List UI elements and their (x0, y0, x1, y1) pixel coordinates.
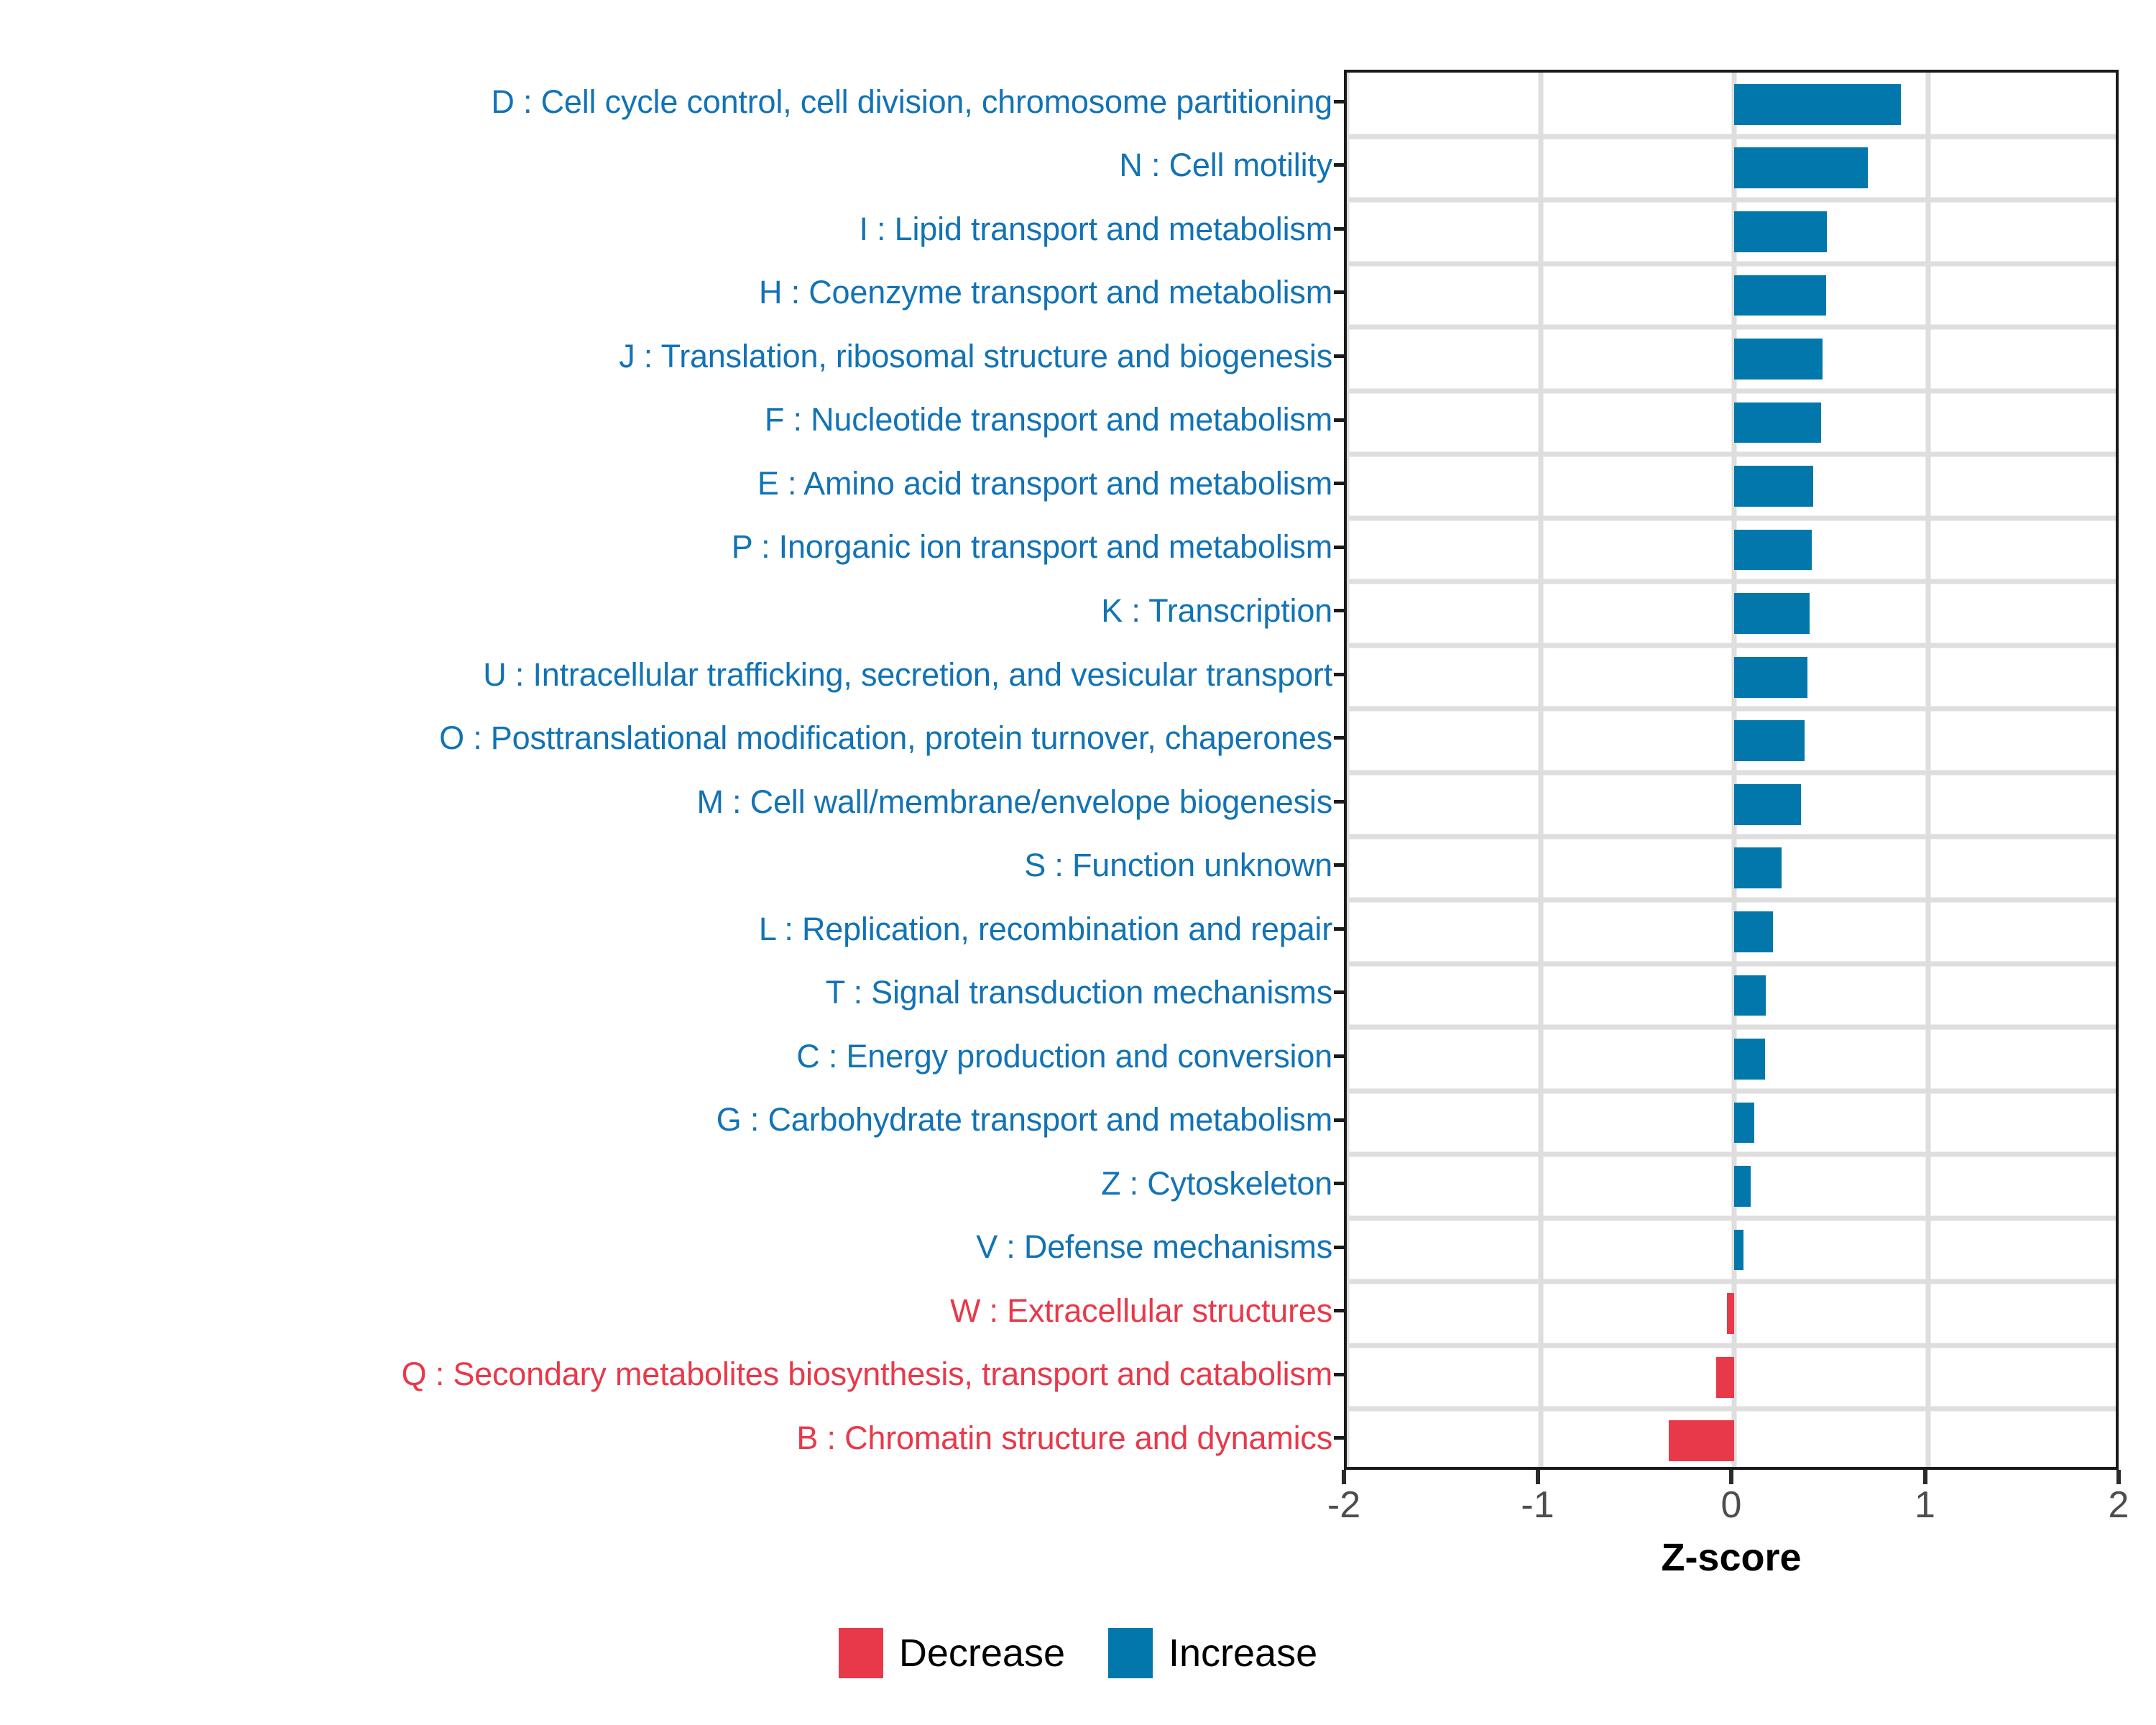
category-label: V : Defense mechanisms (976, 1230, 1332, 1263)
category-label: D : Cell cycle control, cell division, c… (491, 86, 1332, 118)
y-axis-label-row: E : Amino acid transport and metabolism (0, 451, 1342, 515)
category-label: U : Intracellular trafficking, secretion… (483, 658, 1332, 691)
category-label: Z : Cytoskeleton (1101, 1167, 1332, 1200)
bar (1734, 847, 1782, 888)
bar (1734, 339, 1823, 379)
y-axis-label-row: M : Cell wall/membrane/envelope biogenes… (0, 770, 1342, 834)
bar (1727, 1293, 1734, 1334)
y-tick-mark (1334, 609, 1344, 612)
y-axis-category-labels: D : Cell cycle control, cell division, c… (0, 70, 1342, 1470)
y-axis-label-row: C : Energy production and conversion (0, 1024, 1342, 1088)
horizontal-gridline (1347, 1215, 2116, 1220)
x-tick-label: -2 (1327, 1486, 1360, 1524)
legend-swatch-increase (1108, 1628, 1153, 1678)
y-tick-mark (1334, 418, 1344, 422)
bar (1669, 1420, 1734, 1461)
y-axis-label-row: O : Posttranslational modification, prot… (0, 706, 1342, 770)
plot-area (1347, 73, 2116, 1467)
horizontal-gridline (1347, 198, 2116, 203)
bar (1734, 402, 1821, 443)
y-tick-mark (1334, 1118, 1344, 1122)
y-tick-mark (1334, 354, 1344, 358)
plot-panel (1344, 70, 2119, 1470)
bar (1734, 784, 1801, 825)
horizontal-gridline (1347, 1343, 2116, 1348)
y-axis-label-row: D : Cell cycle control, cell division, c… (0, 70, 1342, 134)
bar (1716, 1357, 1734, 1398)
category-label: P : Inorganic ion transport and metaboli… (732, 530, 1332, 563)
y-axis-label-row: K : Transcription (0, 579, 1342, 643)
horizontal-gridline (1347, 388, 2116, 393)
bar (1734, 1230, 1743, 1271)
y-tick-mark (1334, 290, 1344, 294)
horizontal-gridline (1347, 515, 2116, 520)
bar (1734, 1103, 1754, 1144)
y-axis-label-row: N : Cell motility (0, 134, 1342, 198)
category-label: W : Extracellular structures (950, 1294, 1332, 1327)
horizontal-gridline (1347, 1279, 2116, 1284)
category-label: I : Lipid transport and metabolism (859, 213, 1332, 245)
x-tick-mark (1729, 1470, 1733, 1484)
y-tick-mark (1334, 1246, 1344, 1249)
category-label: T : Signal transduction mechanisms (826, 976, 1332, 1008)
y-tick-mark (1334, 990, 1344, 994)
y-tick-mark (1334, 863, 1344, 867)
bar (1734, 466, 1813, 507)
category-label: S : Function unknown (1024, 849, 1332, 881)
horizontal-gridline (1347, 643, 2116, 648)
category-label: C : Energy production and conversion (796, 1040, 1332, 1072)
y-tick-mark (1334, 800, 1344, 804)
y-tick-mark (1334, 1309, 1344, 1312)
legend-label: Increase (1169, 1634, 1317, 1673)
y-axis-label-row: Z : Cytoskeleton (0, 1151, 1342, 1215)
bar (1734, 84, 1901, 125)
horizontal-gridline (1347, 898, 2116, 903)
x-axis-tick-labels: -2-1012 (1344, 1486, 2119, 1529)
horizontal-gridline (1347, 1088, 2116, 1093)
y-axis-label-row: B : Chromatin structure and dynamics (0, 1406, 1342, 1470)
legend-swatch-decrease (839, 1628, 883, 1678)
y-axis-label-row: F : Nucleotide transport and metabolism (0, 388, 1342, 452)
horizontal-gridline (1347, 961, 2116, 966)
y-tick-mark (1334, 673, 1344, 676)
horizontal-gridline (1347, 707, 2116, 712)
category-label: L : Replication, recombination and repai… (759, 913, 1332, 945)
bar (1734, 211, 1827, 252)
horizontal-gridline (1347, 1407, 2116, 1412)
horizontal-gridline (1347, 579, 2116, 584)
category-label: Q : Secondary metabolites biosynthesis, … (402, 1358, 1332, 1390)
bar (1734, 975, 1766, 1016)
bar (1734, 147, 1868, 188)
y-tick-mark (1334, 482, 1344, 485)
y-axis-label-row: W : Extracellular structures (0, 1279, 1342, 1343)
bar (1734, 1039, 1765, 1080)
horizontal-gridline (1347, 1025, 2116, 1030)
y-axis-label-row: H : Coenzyme transport and metabolism (0, 261, 1342, 325)
horizontal-gridline (1347, 452, 2116, 457)
y-tick-mark (1334, 1373, 1344, 1376)
y-axis-label-row: G : Carbohydrate transport and metabolis… (0, 1088, 1342, 1152)
y-axis-label-row: T : Signal transduction mechanisms (0, 960, 1342, 1024)
x-tick-mark (1342, 1470, 1346, 1484)
horizontal-gridline (1347, 261, 2116, 266)
legend-item[interactable]: Increase (1108, 1628, 1317, 1678)
category-label: G : Carbohydrate transport and metabolis… (717, 1103, 1332, 1136)
y-axis-label-row: P : Inorganic ion transport and metaboli… (0, 515, 1342, 579)
bar (1734, 720, 1805, 761)
x-tick-label: 1 (1915, 1486, 1935, 1524)
y-axis-label-row: V : Defense mechanisms (0, 1215, 1342, 1279)
category-label: B : Chromatin structure and dynamics (796, 1422, 1332, 1454)
x-tick-mark (1536, 1470, 1540, 1484)
x-axis-tick-marks (1344, 1470, 2119, 1484)
y-tick-mark (1334, 1436, 1344, 1440)
y-axis-label-row: J : Translation, ribosomal structure and… (0, 324, 1342, 388)
bar (1734, 275, 1826, 316)
y-axis-label-row: L : Replication, recombination and repai… (0, 897, 1342, 961)
category-label: K : Transcription (1101, 594, 1332, 627)
bar (1734, 657, 1807, 698)
bar (1734, 530, 1812, 571)
horizontal-gridline (1347, 325, 2116, 330)
y-axis-label-row: I : Lipid transport and metabolism (0, 197, 1342, 261)
x-tick-label: -1 (1521, 1486, 1554, 1524)
horizontal-gridline (1347, 1152, 2116, 1157)
y-tick-mark (1334, 100, 1344, 103)
y-axis-label-row: U : Intracellular trafficking, secretion… (0, 643, 1342, 707)
y-tick-mark (1334, 1182, 1344, 1185)
y-tick-mark (1334, 736, 1344, 740)
x-tick-label: 2 (2109, 1486, 2129, 1524)
category-label: H : Coenzyme transport and metabolism (759, 276, 1332, 308)
legend-label: Decrease (899, 1634, 1065, 1673)
legend: DecreaseIncrease (0, 1628, 2156, 1678)
y-tick-mark (1334, 227, 1344, 231)
category-label: O : Posttranslational modification, prot… (439, 722, 1332, 754)
legend-item[interactable]: Decrease (839, 1628, 1065, 1678)
horizontal-gridline (1347, 834, 2116, 839)
y-tick-mark (1334, 1054, 1344, 1058)
y-tick-mark (1334, 163, 1344, 167)
category-label: E : Amino acid transport and metabolism (757, 467, 1332, 500)
y-axis-label-row: Q : Secondary metabolites biosynthesis, … (0, 1343, 1342, 1407)
x-tick-mark (2116, 1470, 2121, 1484)
category-label: M : Cell wall/membrane/envelope biogenes… (696, 786, 1332, 818)
y-axis-tick-marks (1334, 70, 1344, 1470)
x-tick-mark (1923, 1470, 1927, 1484)
cog-zscore-bar-chart: D : Cell cycle control, cell division, c… (0, 0, 2156, 1725)
horizontal-gridline (1347, 134, 2116, 139)
bar (1734, 593, 1810, 634)
bar (1734, 1166, 1751, 1207)
bar (1734, 911, 1773, 952)
horizontal-gridline (1347, 770, 2116, 776)
category-label: F : Nucleotide transport and metabolism (765, 403, 1332, 436)
x-axis-title: Z-score (1344, 1538, 2119, 1577)
y-tick-mark (1334, 927, 1344, 931)
x-tick-label: 0 (1721, 1486, 1742, 1524)
category-label: N : Cell motility (1119, 149, 1332, 181)
category-label: J : Translation, ribosomal structure and… (619, 340, 1332, 372)
y-axis-label-row: S : Function unknown (0, 833, 1342, 897)
y-tick-mark (1334, 546, 1344, 549)
